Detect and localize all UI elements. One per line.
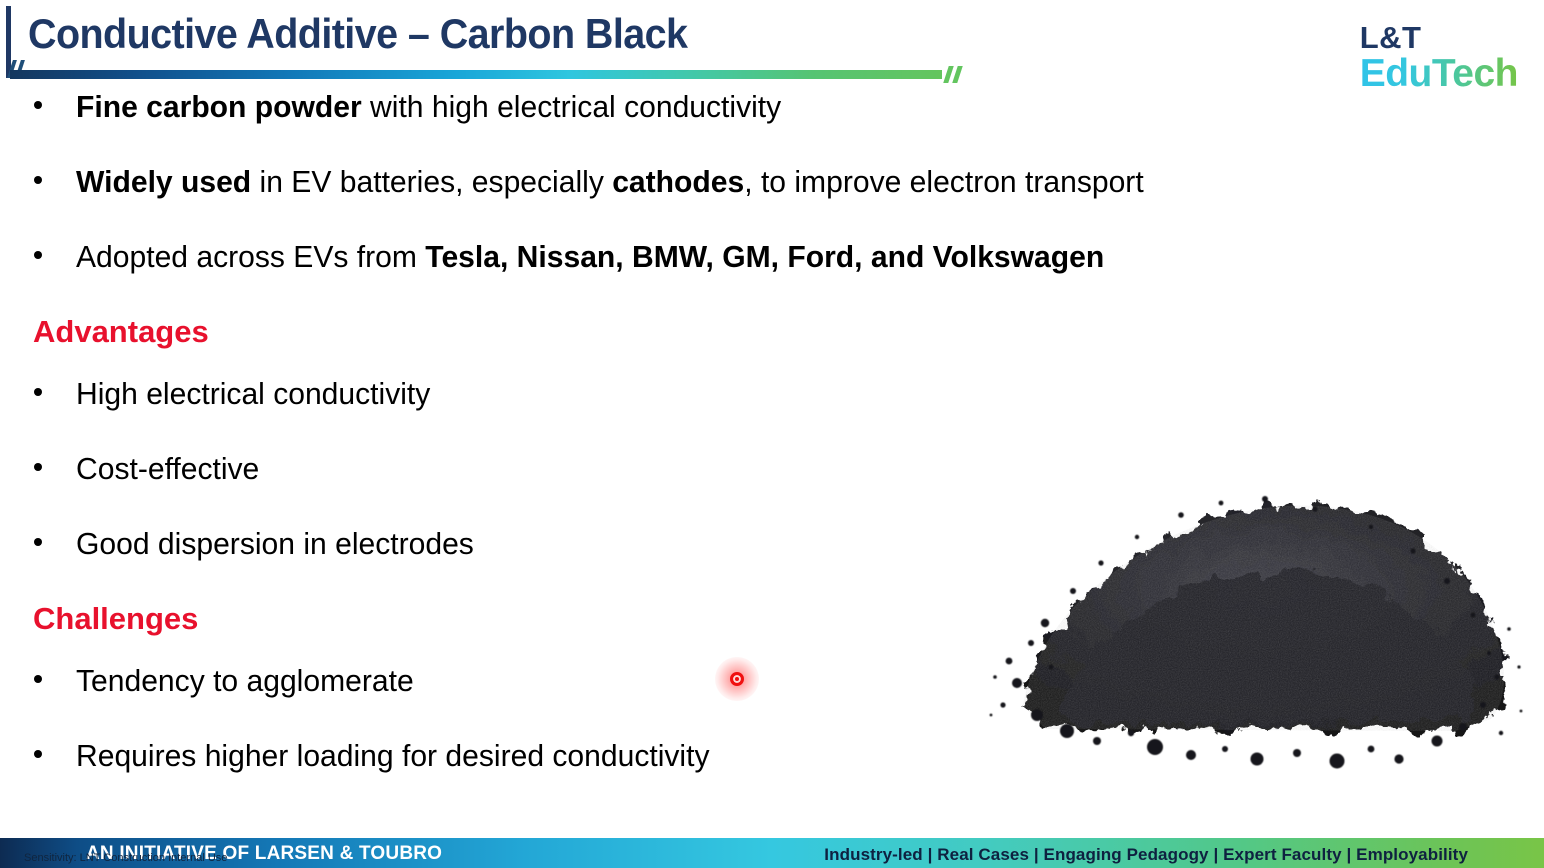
- brand-logo-lt: L&T: [1360, 22, 1518, 53]
- bullet-dot-icon: [34, 251, 42, 259]
- bullet-dot-icon: [34, 388, 42, 396]
- bullet-tail: , to improve electron transport: [744, 164, 1143, 199]
- laser-pointer-core: [730, 672, 744, 686]
- page-title: Conductive Additive – Carbon Black: [28, 8, 687, 60]
- bullet-text: High electrical conductivity: [76, 375, 1428, 413]
- bullet-bold-lead: Widely used: [76, 164, 251, 199]
- bullet-text: Fine carbon powder with high electrical …: [76, 88, 1428, 126]
- bullet-bold-mid: cathodes: [612, 164, 744, 199]
- list-item: Adopted across EVs from Tesla, Nissan, B…: [0, 238, 1470, 288]
- bullet-dot-icon: [34, 538, 42, 546]
- bullet-dot-icon: [34, 101, 42, 109]
- bullet-dot-icon: [34, 675, 42, 683]
- list-item: Fine carbon powder with high electrical …: [0, 88, 1470, 138]
- footer-tagline: Industry-led | Real Cases | Engaging Ped…: [824, 845, 1468, 865]
- bullet-rest: Adopted across EVs from: [76, 239, 425, 274]
- bullet-bold-mid: Tesla, Nissan, BMW, GM, Ford, and Volksw…: [425, 239, 1104, 274]
- bullet-text: Adopted across EVs from Tesla, Nissan, B…: [76, 238, 1428, 276]
- bullet-dot-icon: [34, 463, 42, 471]
- bullet-rest: in EV batteries, especially: [251, 164, 612, 199]
- list-item: Widely used in EV batteries, especially …: [0, 163, 1470, 213]
- sensitivity-label: Sensitivity: LNT Construction Internal U…: [24, 852, 227, 864]
- slash-accent-end-icon: [944, 66, 970, 84]
- bullet-rest: with high electrical conductivity: [362, 89, 782, 124]
- bullet-bold-lead: Fine carbon powder: [76, 89, 362, 124]
- brand-logo: L&T EduTech: [1360, 22, 1518, 93]
- section-heading-advantages: Advantages: [0, 313, 1470, 351]
- carbon-black-powder-image: [985, 415, 1530, 790]
- title-gradient-divider: [10, 70, 942, 79]
- bullet-text: Widely used in EV batteries, especially …: [76, 163, 1428, 201]
- bullet-dot-icon: [34, 750, 42, 758]
- bullet-dot-icon: [34, 176, 42, 184]
- slide-canvas: Conductive Additive – Carbon Black L&T E…: [0, 0, 1544, 868]
